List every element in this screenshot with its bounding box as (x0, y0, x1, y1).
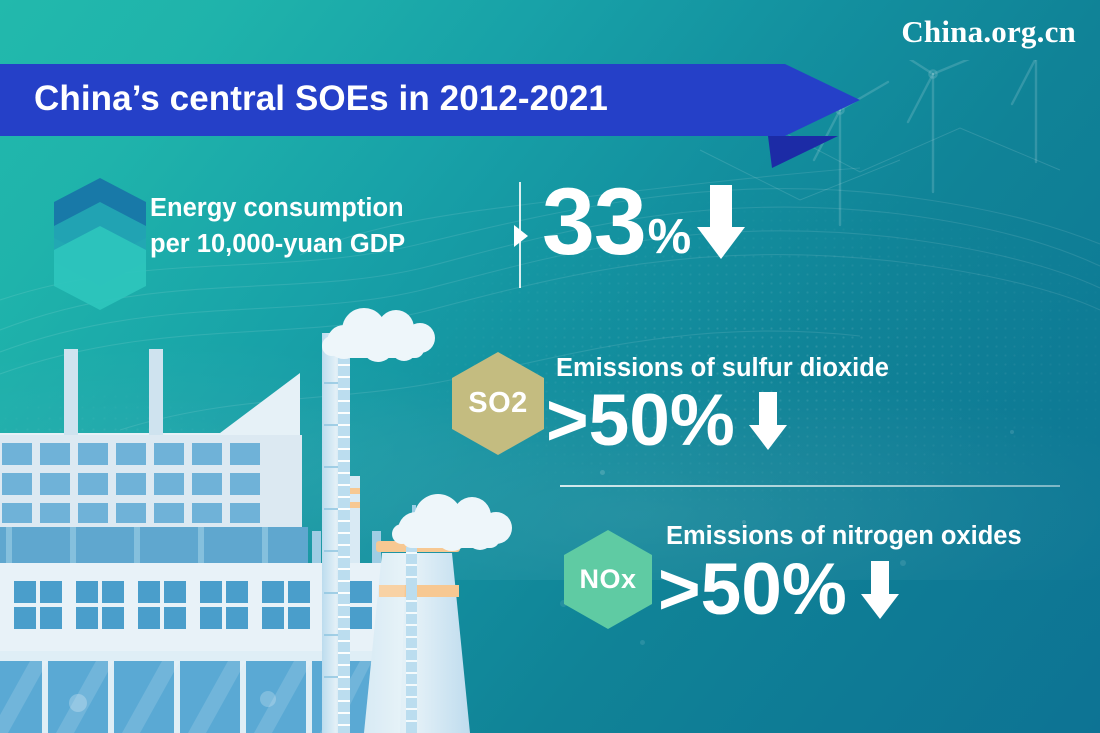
stat-value: >50 (546, 387, 670, 456)
site-logo: China.org.cn (901, 14, 1076, 50)
stat-unit: % (670, 387, 735, 456)
badge-label-nox: NOx (564, 530, 652, 629)
stat-value: >50 (658, 556, 782, 625)
page-title: China’s central SOEs in 2012-2021 (34, 79, 608, 119)
infographic-poster: China.org.cn China’s central SOEs in 201… (0, 0, 1100, 733)
stat-label-energy-consumption: Energy consumption per 10,000-yuan GDP (150, 190, 405, 262)
title-banner: China’s central SOEs in 2012-2021 (0, 64, 860, 136)
chevron-right-icon (512, 225, 528, 247)
hexagon-badge-so2: SO2 (452, 352, 544, 455)
sparkle (1010, 430, 1014, 434)
stat-block-sulfur-dioxide: SO2 Emissions of sulfur dioxide >50 % (0, 350, 1000, 480)
stat-label-line-2: per 10,000-yuan GDP (150, 226, 405, 262)
stat-value: 33 (542, 178, 646, 267)
wind-turbine-icon (990, 60, 1088, 162)
stat-figure-energy-consumption: 33 % (542, 178, 745, 267)
stat-figure-nitrogen-oxides: >50 % (658, 556, 899, 625)
stat-block-energy-consumption: Energy consumption per 10,000-yuan GDP 3… (0, 170, 830, 310)
stat-unit: % (782, 556, 847, 625)
section-divider (560, 485, 1060, 487)
hexagon-badge-nox: NOx (564, 530, 652, 629)
arrow-down-icon (861, 561, 899, 619)
stat-block-nitrogen-oxides: NOx Emissions of nitrogen oxides >50 % (0, 518, 1060, 648)
wind-turbine-icon (886, 60, 986, 192)
arrow-down-icon (749, 392, 787, 450)
stat-figure-sulfur-dioxide: >50 % (546, 387, 787, 456)
hexagon-stack-icon (54, 178, 146, 310)
arrow-down-icon (697, 185, 745, 259)
stat-label-line-1: Energy consumption (150, 190, 405, 226)
banner-fold (768, 136, 838, 168)
stat-unit: % (648, 214, 692, 267)
badge-label-so2: SO2 (452, 352, 544, 455)
